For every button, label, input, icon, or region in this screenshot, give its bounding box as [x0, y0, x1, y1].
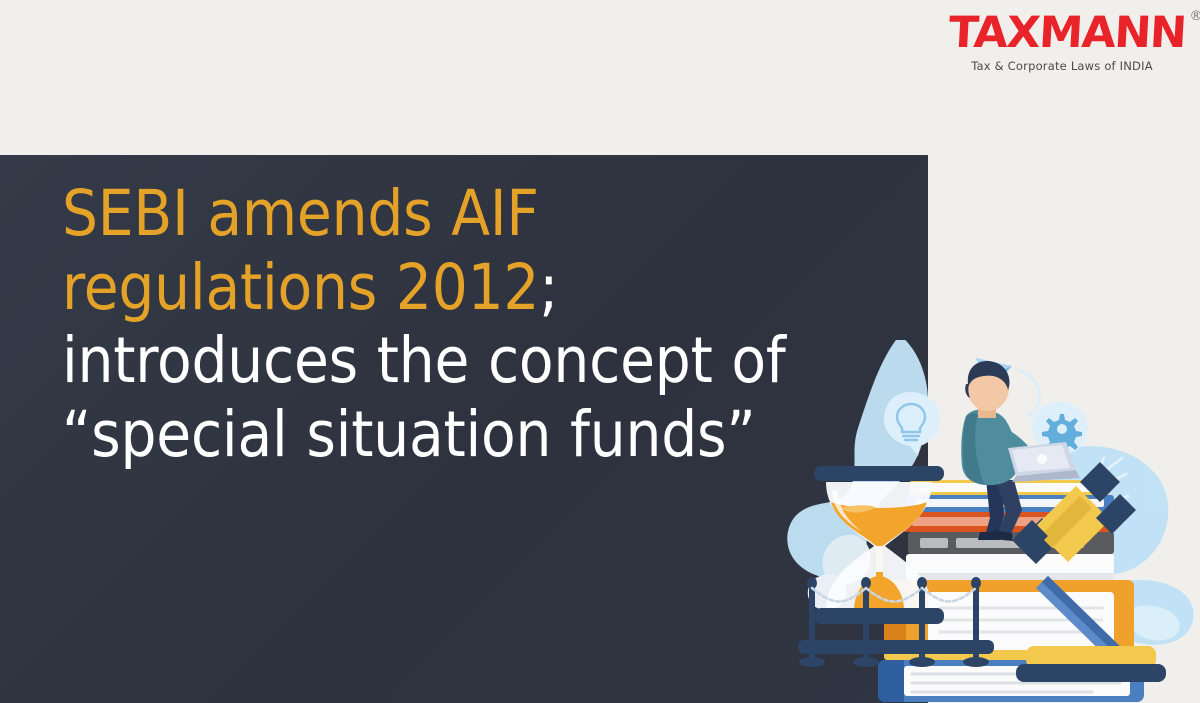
sound-block: [1016, 646, 1166, 682]
brand-wordmark: TAXMANN ®: [947, 12, 1186, 55]
headline-semicolon: ;: [539, 251, 558, 324]
brand-name: TAXMANN: [947, 8, 1187, 58]
page-title: SEBI amends AIF regulations 2012; introd…: [62, 177, 862, 472]
banner-canvas: TAXMANN ® Tax & Corporate Laws of INDIA …: [0, 0, 1200, 703]
legal-research-illustration: [780, 340, 1200, 703]
registered-trademark-icon: ®: [1190, 10, 1200, 23]
headline-rest-text: introduces the concept of “special situa…: [62, 324, 786, 471]
taxmann-logo: TAXMANN ® Tax & Corporate Laws of INDIA: [952, 12, 1172, 73]
brand-tagline: Tax & Corporate Laws of INDIA: [952, 61, 1172, 73]
motion-arc-decoration: [1018, 370, 1040, 419]
headline-accent-text: SEBI amends AIF regulations 2012: [62, 177, 539, 324]
